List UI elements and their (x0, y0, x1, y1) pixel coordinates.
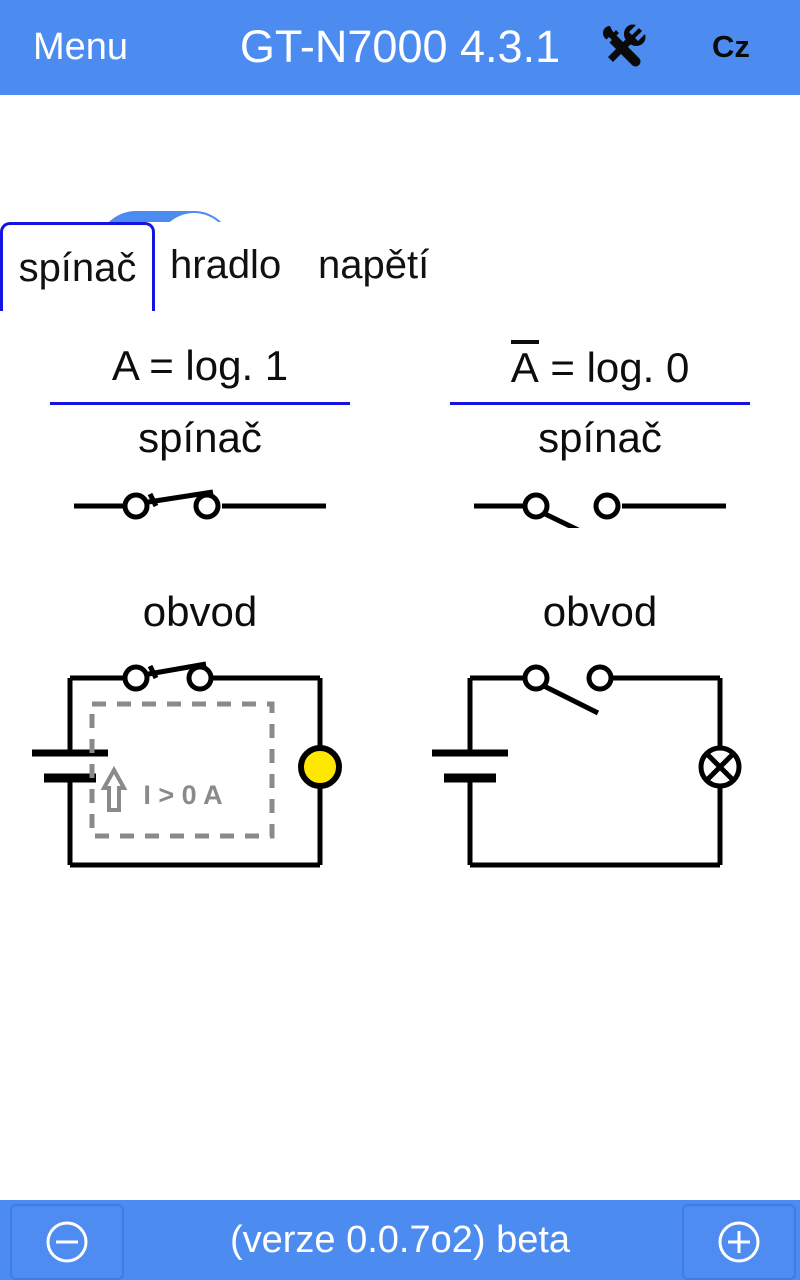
main-content: A = log. 1 spínač obvod (0, 308, 800, 1208)
state-variable-negated: A (511, 340, 539, 390)
circle-minus-icon[interactable] (10, 1204, 124, 1280)
column-logic-high: A = log. 1 spínač obvod (0, 308, 400, 908)
tab-label: hradlo (170, 243, 281, 288)
heading-divider (50, 402, 350, 405)
state-suffix: = log. 0 (539, 344, 690, 391)
tab-hradlo[interactable]: hradlo (170, 222, 281, 308)
circuit-diagram-lit: I > 0 A (20, 658, 380, 888)
switch-symbol-open (470, 468, 730, 528)
page-title: GT-N7000 4.3.1 (0, 20, 800, 74)
state-heading-left: A = log. 1 (0, 340, 400, 392)
heading-divider (450, 402, 750, 405)
switch-symbol-closed (70, 468, 330, 528)
tab-napeti[interactable]: napětí (318, 222, 429, 308)
switch-section-label: spínač (0, 412, 400, 464)
state-suffix: = log. 1 (138, 342, 289, 389)
version-label: (verze 0.0.7o2) beta (130, 1216, 670, 1264)
state-heading-right: A = log. 0 (400, 340, 800, 394)
tools-hammer-wrench-icon[interactable] (598, 22, 648, 72)
tab-label: spínač (19, 246, 137, 291)
top-app-bar: Menu GT-N7000 4.3.1 Cz (0, 0, 800, 95)
switch-section-label: spínač (400, 412, 800, 464)
current-value-label: I > 0 A (143, 780, 222, 810)
tab-spinac[interactable]: spínač (0, 222, 155, 311)
bottom-bar: (verze 0.0.7o2) beta (0, 1200, 800, 1280)
column-logic-low: A = log. 0 spínač obvod (400, 308, 800, 908)
circle-plus-icon[interactable] (682, 1204, 796, 1280)
state-variable: A (112, 342, 138, 389)
circuit-section-label: obvod (0, 586, 400, 638)
tab-strip: spínač hradlo napětí (0, 222, 800, 311)
tab-label: napětí (318, 243, 429, 288)
circuit-section-label: obvod (400, 586, 800, 638)
language-button[interactable]: Cz (712, 26, 750, 68)
circuit-diagram-unlit (420, 658, 780, 888)
input-toggle-row: A (0, 95, 800, 220)
